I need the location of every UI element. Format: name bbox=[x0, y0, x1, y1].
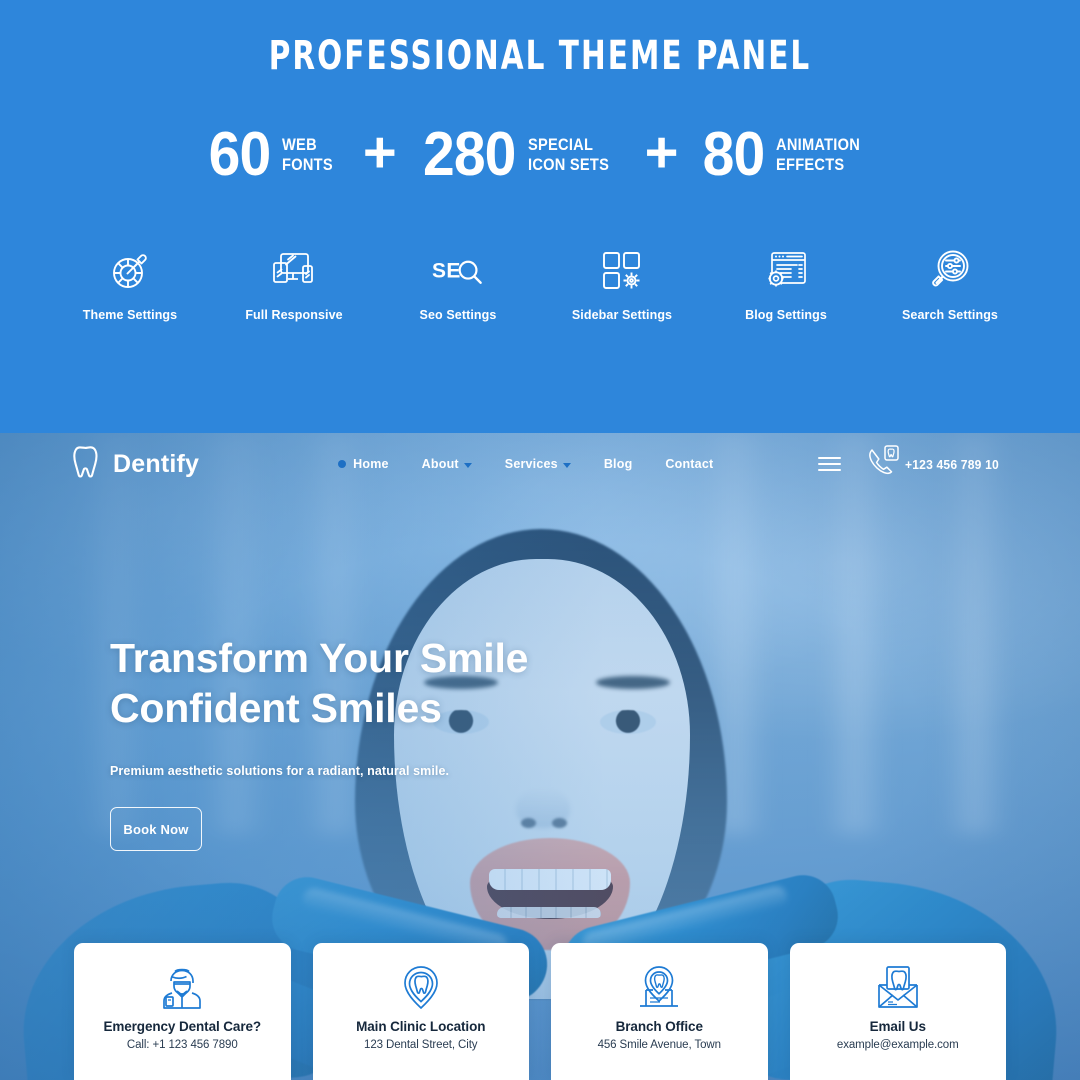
nav-item-label: Home bbox=[353, 457, 389, 471]
stat-item-fonts: 60 WEB FONTS bbox=[206, 126, 341, 185]
feature-icon-row: Theme Settings Full Responsive SE bbox=[48, 248, 1032, 322]
stat-label: SPECIAL ICON SETS bbox=[528, 135, 609, 175]
phone-contact[interactable]: +123 456 789 10 bbox=[865, 443, 1006, 486]
feature-theme-settings[interactable]: Theme Settings bbox=[48, 248, 212, 322]
nav-item-label: About bbox=[422, 457, 459, 471]
plus-separator-2: + bbox=[645, 127, 679, 179]
hero-subtitle: Premium aesthetic solutions for a radian… bbox=[110, 764, 670, 778]
nav-item-blog[interactable]: Blog bbox=[604, 457, 633, 471]
feature-label: Search Settings bbox=[902, 308, 998, 322]
nav-item-home[interactable]: Home bbox=[338, 457, 389, 471]
stat-number: 60 bbox=[209, 126, 271, 185]
stat-number: 280 bbox=[423, 126, 515, 185]
feature-seo-settings[interactable]: SE Seo Settings bbox=[376, 248, 540, 322]
plus-separator-1: + bbox=[363, 127, 397, 179]
grid-gear-icon bbox=[596, 248, 648, 294]
navbar-right: +123 456 789 10 bbox=[818, 443, 1006, 486]
nav-item-services[interactable]: Services bbox=[505, 457, 571, 471]
website-preview: Dentify Home About Services Blog Contact bbox=[0, 433, 1080, 1080]
nav-item-about[interactable]: About bbox=[422, 457, 472, 471]
chevron-down-icon bbox=[563, 463, 571, 468]
info-cards: Emergency Dental Care? Call: +1 123 456 … bbox=[74, 943, 1006, 1080]
svg-text:SE: SE bbox=[432, 260, 461, 283]
magnifier-sliders-icon bbox=[924, 248, 976, 294]
stats-strip: 60 WEB FONTS + 280 SPECIAL ICON SETS + 8… bbox=[0, 126, 1080, 185]
tooth-icon bbox=[72, 445, 103, 483]
info-card-main-clinic[interactable]: Main Clinic Location 123 Dental Street, … bbox=[313, 943, 530, 1080]
feature-search-settings[interactable]: Search Settings bbox=[868, 248, 1032, 322]
active-dot-icon bbox=[338, 460, 346, 468]
stat-label: ANIMATION EFFECTS bbox=[776, 135, 860, 175]
devices-responsive-icon bbox=[268, 248, 320, 294]
seo-magnifier-icon: SE bbox=[432, 248, 484, 294]
hamburger-menu-icon[interactable] bbox=[818, 457, 841, 471]
info-card-emergency[interactable]: Emergency Dental Care? Call: +1 123 456 … bbox=[74, 943, 291, 1080]
branch-pin-tooth-icon bbox=[636, 963, 682, 1013]
feature-label: Sidebar Settings bbox=[572, 308, 672, 322]
color-wheel-eyedropper-icon bbox=[104, 248, 156, 294]
promo-title: PROFESSIONAL THEME PANEL bbox=[97, 33, 983, 79]
nav-item-contact[interactable]: Contact bbox=[665, 457, 713, 471]
feature-label: Blog Settings bbox=[745, 308, 827, 322]
feature-label: Full Responsive bbox=[245, 308, 342, 322]
info-card-subtitle: Call: +1 123 456 7890 bbox=[127, 1039, 238, 1051]
info-card-subtitle: 456 Smile Avenue, Town bbox=[598, 1039, 721, 1051]
dentist-person-icon bbox=[159, 963, 205, 1013]
info-card-subtitle: example@example.com bbox=[837, 1039, 959, 1051]
theme-panel-promo: PROFESSIONAL THEME PANEL 60 WEB FONTS + … bbox=[0, 0, 1080, 433]
info-card-title: Emergency Dental Care? bbox=[103, 1019, 261, 1034]
info-card-email[interactable]: Email Us example@example.com bbox=[790, 943, 1007, 1080]
phone-tooth-icon bbox=[865, 443, 903, 486]
info-card-title: Main Clinic Location bbox=[356, 1019, 485, 1034]
nav-item-label: Contact bbox=[665, 457, 713, 471]
stat-item-animations: 80 ANIMATION EFFECTS bbox=[700, 126, 874, 185]
chevron-down-icon bbox=[464, 463, 472, 468]
feature-label: Seo Settings bbox=[420, 308, 497, 322]
envelope-tooth-icon bbox=[874, 963, 922, 1013]
info-card-title: Branch Office bbox=[616, 1019, 703, 1034]
book-now-button[interactable]: Book Now bbox=[110, 807, 202, 851]
stat-label: WEB FONTS bbox=[282, 135, 333, 175]
feature-blog-settings[interactable]: Blog Settings bbox=[704, 248, 868, 322]
brand-logo[interactable]: Dentify bbox=[72, 445, 199, 483]
hero-content: Transform Your Smile Confident Smiles Pr… bbox=[110, 633, 670, 851]
brand-name: Dentify bbox=[113, 450, 199, 479]
feature-full-responsive[interactable]: Full Responsive bbox=[212, 248, 376, 322]
nav-links: Home About Services Blog Contact bbox=[338, 457, 713, 471]
info-card-title: Email Us bbox=[870, 1019, 926, 1034]
info-card-subtitle: 123 Dental Street, City bbox=[364, 1039, 477, 1051]
feature-sidebar-settings[interactable]: Sidebar Settings bbox=[540, 248, 704, 322]
hero-heading-line2: Confident Smiles bbox=[110, 683, 670, 733]
stat-number: 80 bbox=[703, 126, 765, 185]
stat-item-icons: 280 SPECIAL ICON SETS bbox=[419, 126, 623, 185]
nav-item-label: Blog bbox=[604, 457, 633, 471]
info-card-branch-office[interactable]: Branch Office 456 Smile Avenue, Town bbox=[551, 943, 768, 1080]
site-navbar: Dentify Home About Services Blog Contact bbox=[0, 433, 1080, 495]
hero-heading-line1: Transform Your Smile bbox=[110, 633, 670, 683]
map-pin-tooth-icon bbox=[399, 963, 443, 1013]
phone-number: +123 456 789 10 bbox=[905, 457, 999, 472]
browser-gear-icon bbox=[760, 248, 812, 294]
nav-item-label: Services bbox=[505, 457, 558, 471]
feature-label: Theme Settings bbox=[83, 308, 177, 322]
